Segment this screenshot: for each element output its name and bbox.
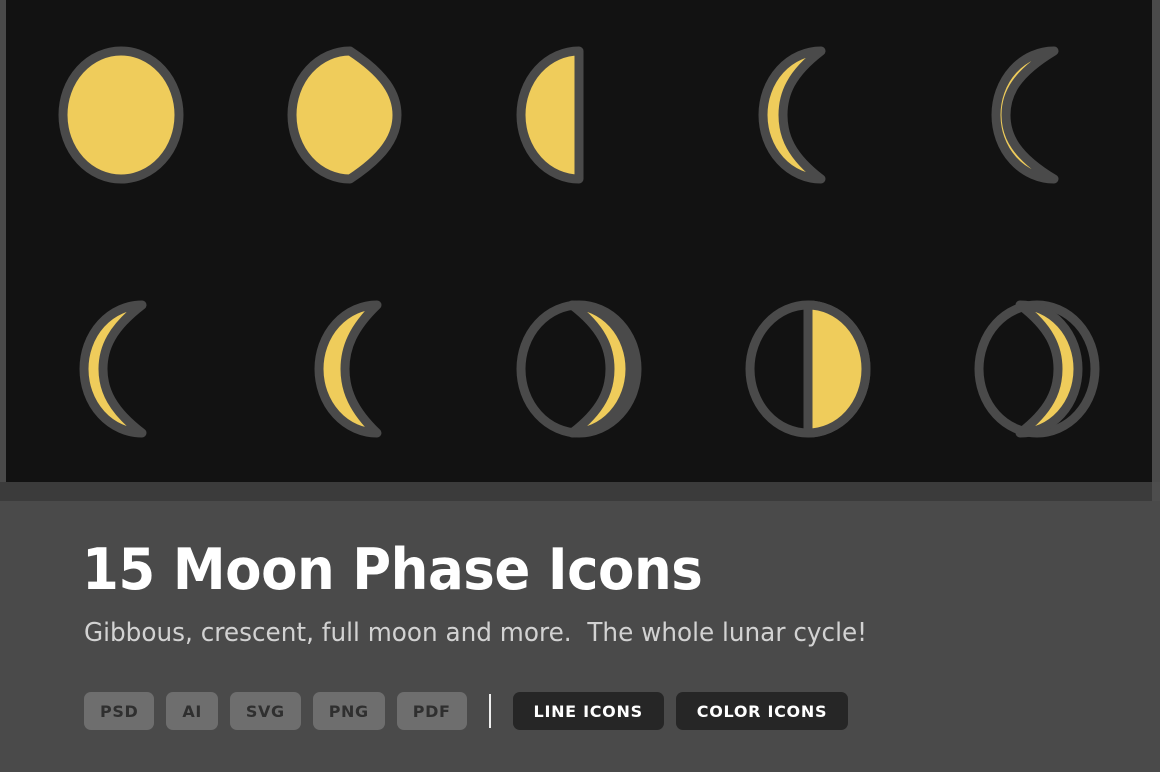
line-icons-button[interactable]: LINE ICONS xyxy=(513,692,664,730)
badge-row: PSD AI SVG PNG PDF LINE ICONS COLOR ICON… xyxy=(84,692,848,730)
page-subtitle: Gibbous, crescent, full moon and more. T… xyxy=(84,618,867,648)
info-panel: 15 Moon Phase Icons Gibbous, crescent, f… xyxy=(0,501,1160,772)
format-badge-svg[interactable]: SVG xyxy=(230,692,301,730)
badge-divider xyxy=(489,694,491,728)
icon-showcase-panel xyxy=(6,0,1152,482)
format-badge-pdf[interactable]: PDF xyxy=(397,692,467,730)
panel-right-edge xyxy=(1152,0,1160,482)
format-badge-psd[interactable]: PSD xyxy=(84,692,154,730)
color-icons-button[interactable]: COLOR ICONS xyxy=(676,692,848,730)
last-quarter-half-moon-icon[interactable] xyxy=(489,32,669,198)
icon-row-bottom xyxy=(6,286,1152,452)
waning-gibbous-icon[interactable] xyxy=(260,32,440,198)
panel-seam-right xyxy=(1152,482,1160,501)
waning-crescent-filled-wide-icon[interactable] xyxy=(260,286,440,452)
format-badge-png[interactable]: PNG xyxy=(313,692,385,730)
first-quarter-outline-icon[interactable] xyxy=(718,286,898,452)
waxing-crescent-outline-icon[interactable] xyxy=(489,286,669,452)
poster-stage: 15 Moon Phase Icons Gibbous, crescent, f… xyxy=(0,0,1160,772)
page-title: 15 Moon Phase Icons xyxy=(82,537,702,603)
full-moon-icon[interactable] xyxy=(31,32,211,198)
format-badge-ai[interactable]: AI xyxy=(166,692,218,730)
waxing-gibbous-outline-icon[interactable] xyxy=(947,286,1127,452)
icon-row-top xyxy=(6,32,1152,198)
waning-crescent-filled-icon[interactable] xyxy=(31,286,211,452)
waning-crescent-thin-icon[interactable] xyxy=(718,32,898,198)
waning-crescent-icon[interactable] xyxy=(947,32,1127,198)
panel-seam xyxy=(0,482,1160,501)
